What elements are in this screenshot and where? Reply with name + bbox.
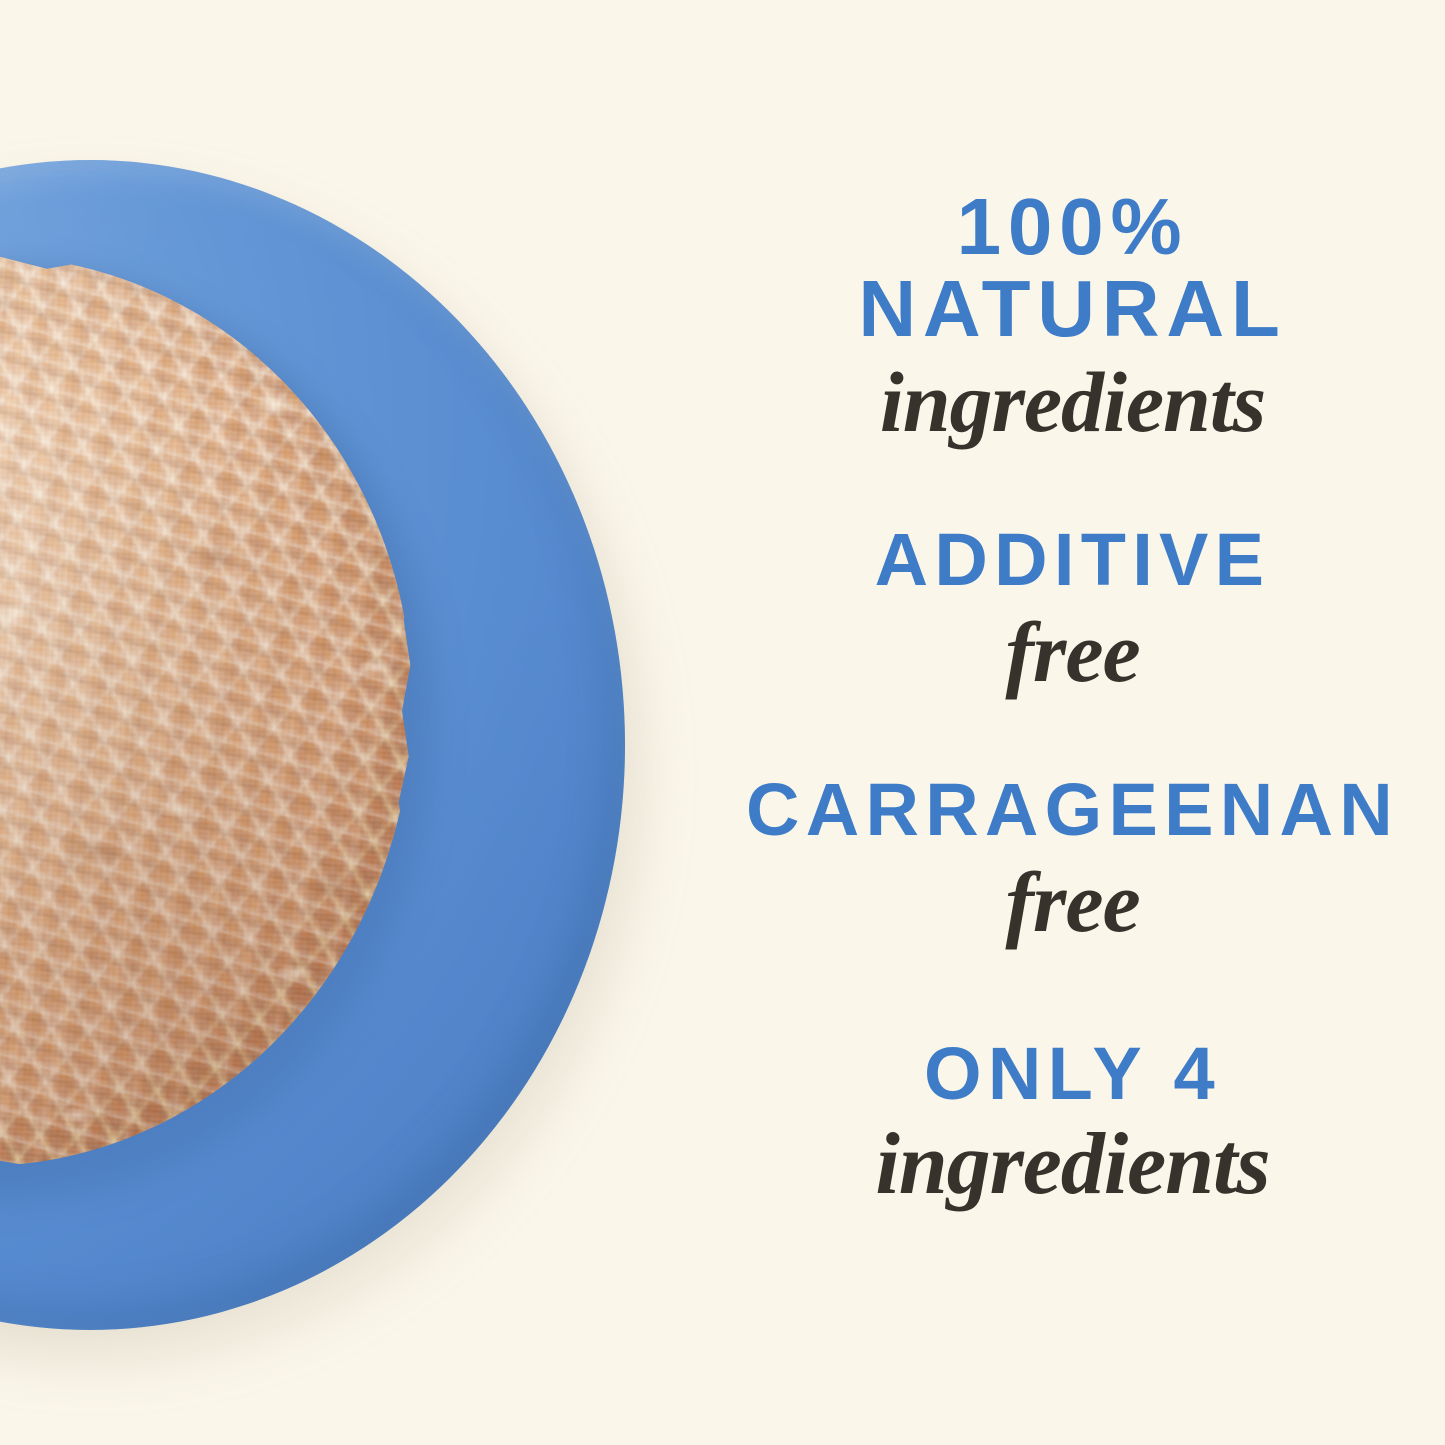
food-fiber-grain <box>0 256 412 1166</box>
claim-carrageenan-headline-line-1: CARRAGEENAN <box>700 772 1445 847</box>
claim-additive-headline-line-1: ADDITIVE <box>700 522 1445 597</box>
claim-natural-headline: 100% NATURAL <box>700 186 1445 349</box>
product-photo <box>0 0 760 1445</box>
claim-natural-subline: ingredients <box>700 359 1445 445</box>
claim-only4-headline-line-1: ONLY 4 <box>700 1036 1445 1111</box>
claim-carrageenan-headline: CARRAGEENAN <box>700 772 1445 847</box>
claim-natural-ingredients: 100% NATURAL ingredients <box>700 186 1445 445</box>
claim-additive-subline: free <box>700 609 1445 695</box>
claim-additive-free: ADDITIVE free <box>700 522 1445 695</box>
product-feature-graphic: 100% NATURAL ingredients ADDITIVE free C… <box>0 0 1445 1445</box>
claims-list: 100% NATURAL ingredients ADDITIVE free C… <box>700 0 1445 1445</box>
shredded-tuna-mound <box>0 256 412 1166</box>
claim-additive-headline: ADDITIVE <box>700 522 1445 597</box>
claim-carrageenan-free: CARRAGEENAN free <box>700 772 1445 945</box>
claim-only-four-ingredients: ONLY 4 ingredients <box>700 1036 1445 1209</box>
claim-carrageenan-subline: free <box>700 859 1445 945</box>
claim-only4-subline: ingredients <box>700 1121 1445 1209</box>
claim-natural-headline-line-1: 100% <box>700 186 1445 268</box>
claim-only4-headline: ONLY 4 <box>700 1036 1445 1111</box>
claim-natural-headline-line-2: NATURAL <box>700 268 1445 350</box>
